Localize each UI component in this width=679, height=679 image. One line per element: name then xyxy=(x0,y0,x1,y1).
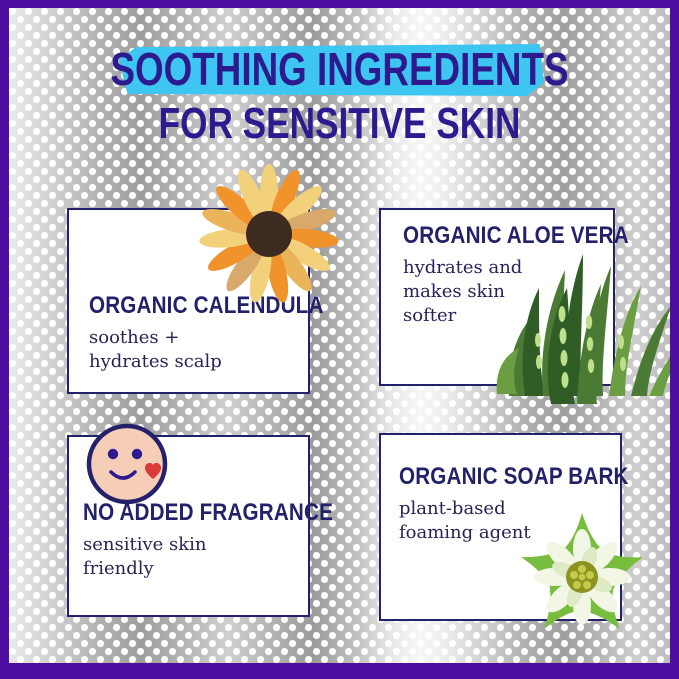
card-text-block: ORGANIC ALOE VERA hydrates and makes ski… xyxy=(403,222,613,327)
page-title-line-2: FOR SENSITIVE SKIN xyxy=(75,92,604,146)
card-body-text: sensitive skin friendly xyxy=(83,533,308,581)
ingredient-card-soap-bark: ORGANIC SOAP BARK plant-based foaming ag… xyxy=(379,433,622,621)
card-body-text: plant-based foaming agent xyxy=(399,497,620,545)
card-heading: NO ADDED FRAGRANCE xyxy=(83,499,277,527)
card-text-block: ORGANIC CALENDULA soothes + hydrates sca… xyxy=(89,292,308,374)
page-title-line-1: SOOTHING INGREDIENTS xyxy=(75,38,604,92)
card-text-block: ORGANIC SOAP BARK plant-based foaming ag… xyxy=(399,463,620,545)
poster-title-block: SOOTHING INGREDIENTS FOR SENSITIVE SKIN xyxy=(9,38,670,146)
card-heading: ORGANIC SOAP BARK xyxy=(399,463,589,491)
ingredient-card-calendula: ORGANIC CALENDULA soothes + hydrates sca… xyxy=(67,208,310,394)
card-body-text: hydrates and makes skin softer xyxy=(403,256,613,327)
card-text-block: NO ADDED FRAGRANCE sensitive skin friend… xyxy=(83,499,308,581)
card-heading: ORGANIC ALOE VERA xyxy=(403,222,584,250)
card-heading: ORGANIC CALENDULA xyxy=(89,292,277,320)
infographic-poster: SOOTHING INGREDIENTS FOR SENSITIVE SKIN … xyxy=(0,0,679,679)
polka-dot-background: SOOTHING INGREDIENTS FOR SENSITIVE SKIN … xyxy=(9,8,670,663)
ingredient-card-aloe-vera: ORGANIC ALOE VERA hydrates and makes ski… xyxy=(379,208,615,386)
card-body-text: soothes + hydrates scalp xyxy=(89,326,308,374)
ingredient-card-no-added-fragrance: NO ADDED FRAGRANCE sensitive skin friend… xyxy=(67,435,310,617)
